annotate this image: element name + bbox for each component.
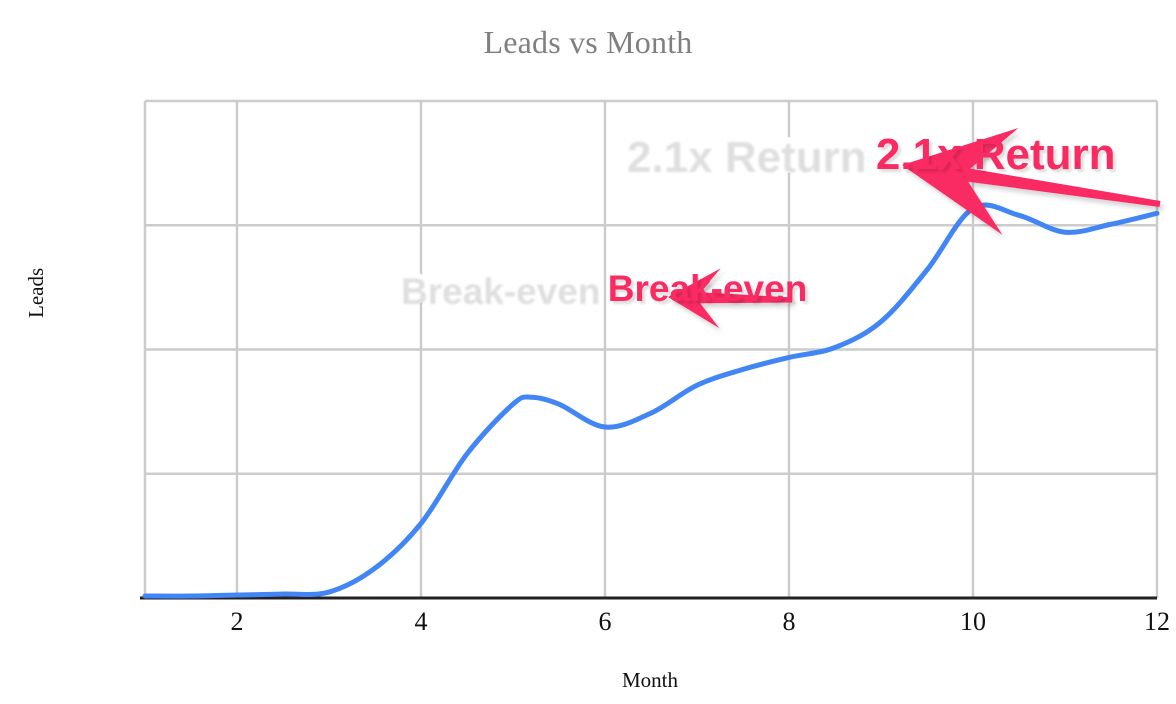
chart-plot-area: 24681012: [0, 0, 1176, 704]
x-tick-label: 6: [599, 607, 612, 636]
x-tick-label: 4: [415, 607, 428, 636]
annotation-return-text: 2.1x Return: [876, 130, 1116, 179]
annotation-return-outline: 2.1x Return: [624, 130, 864, 179]
annotation-label-break-even: Break-even Break-even: [398, 268, 807, 310]
x-tick-label: 8: [783, 607, 796, 636]
x-tick-labels: 24681012: [231, 607, 1171, 636]
x-tick-label: 10: [960, 607, 986, 636]
y-axis-title: Leads: [24, 268, 49, 318]
chart-container: Leads vs Month 24681012 Break-even Break…: [0, 0, 1176, 704]
annotation-break-even-text: Break-even: [608, 268, 808, 309]
annotation-label-return: 2.1x Return 2.1x Return: [624, 130, 1116, 180]
annotation-break-even-outline: Break-even: [398, 268, 598, 309]
x-tick-label: 2: [231, 607, 244, 636]
x-tick-label: 12: [1144, 607, 1170, 636]
data-line-leads: [145, 205, 1157, 596]
x-axis-title: Month: [0, 668, 1176, 693]
